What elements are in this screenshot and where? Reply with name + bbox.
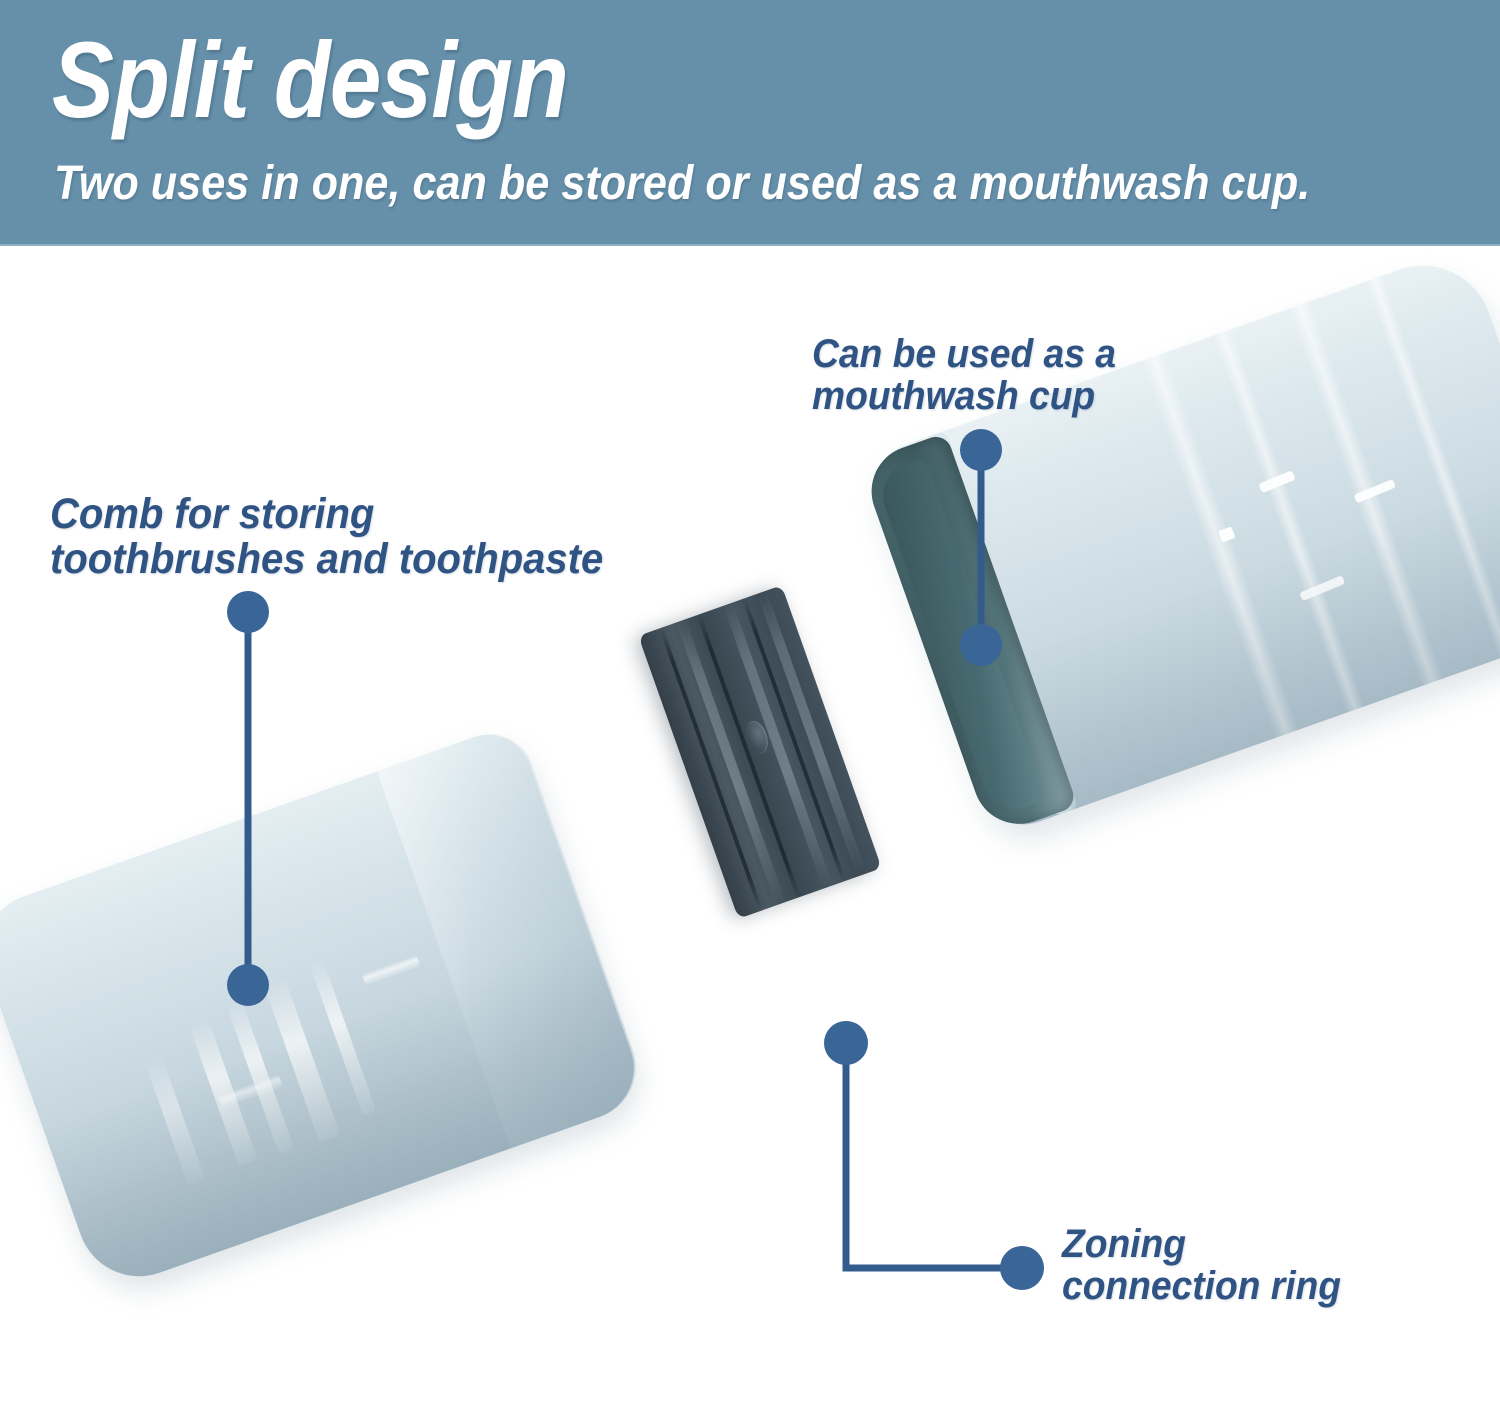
comb-ridge (145, 1056, 206, 1186)
page-subtitle: Two uses in one, can be stored or used a… (54, 158, 1310, 211)
cap-left-glint (218, 1074, 283, 1109)
callout-label-comb-storage: Comb for storing toothbrushes and toothp… (50, 492, 603, 581)
header-banner: Split design Two uses in one, can be sto… (0, 0, 1500, 246)
cup-sheen-band (1365, 276, 1500, 659)
connection-ring-band (638, 585, 881, 919)
callout-label-zoning-ring: Zoning connection ring (1062, 1224, 1341, 1307)
cap-left-glint (362, 955, 421, 986)
callout-label-mouthwash-cup: Can be used as a mouthwash cup (812, 334, 1116, 417)
cup-sheen-band (1213, 329, 1365, 713)
cup-glint (1299, 575, 1345, 601)
cap-left-facet (377, 722, 650, 1148)
ring-sheen (676, 619, 786, 905)
cup-sheen-band (1141, 353, 1299, 739)
page-title: Split design (52, 18, 568, 142)
product-part-connection-ring (638, 585, 881, 919)
product-part-cap-left (0, 723, 648, 1294)
infographic-page: Split design Two uses in one, can be sto… (0, 0, 1500, 1408)
